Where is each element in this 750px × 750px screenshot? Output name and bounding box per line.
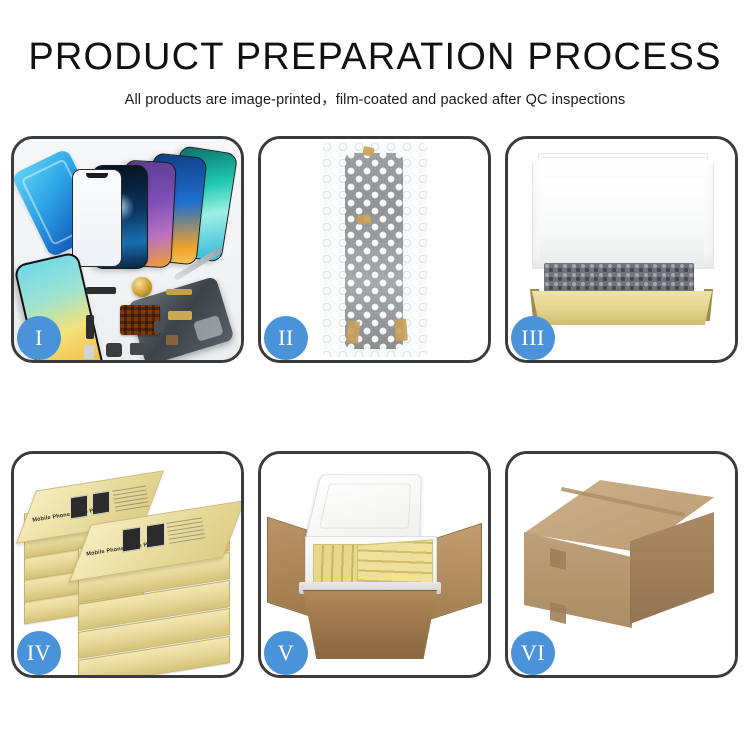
white-foam-liner-icon [540, 179, 704, 265]
product-preparation-infographic: PRODUCT PREPARATION PROCESS All products… [0, 0, 750, 750]
bubble-wrap-texture-icon [323, 143, 427, 357]
part-gold-flex-icon [168, 311, 192, 320]
step-panel-2: II [258, 136, 491, 363]
step-badge-1: I [17, 316, 61, 360]
page-title: PRODUCT PREPARATION PROCESS [0, 38, 750, 76]
step-badge-5: V [264, 631, 308, 675]
part-connector-icon [86, 287, 116, 294]
phone-notch-icon [86, 173, 108, 178]
bubble-wrap-bag [323, 143, 427, 357]
step-badge-3: III [511, 316, 555, 360]
header: PRODUCT PREPARATION PROCESS All products… [0, 0, 750, 109]
step-panel-4: Mobile Phone Spare Parts Mobile Phone Sp… [11, 451, 244, 678]
carton-tape-icon [550, 548, 566, 570]
tape-piece-icon [356, 214, 371, 225]
part-button-icon [154, 321, 164, 333]
part-flex-cable-icon [86, 315, 94, 339]
vibration-motor-icon [132, 277, 152, 297]
step-panel-1: I [11, 136, 244, 363]
process-steps-grid: I II [11, 136, 739, 678]
tape-piece-icon [345, 320, 359, 343]
part-speaker-icon [130, 343, 144, 355]
step-badge-6: VI [511, 631, 555, 675]
part-gold-strip-icon [166, 289, 192, 295]
step-badge-4: IV [17, 631, 61, 675]
tape-piece-icon [394, 319, 408, 342]
step-panel-6: VI [505, 451, 738, 678]
styrofoam-lid-icon [304, 474, 421, 542]
part-bracket-icon [166, 335, 178, 345]
step-panel-3: III [505, 136, 738, 363]
carton-tape-icon [550, 602, 566, 624]
part-sim-tray-icon [84, 345, 94, 359]
carton-body-icon [303, 590, 437, 659]
part-camera-module-icon [106, 343, 122, 357]
page-subtitle: All products are image-printed，film-coat… [0, 88, 750, 109]
step-panel-5: V [258, 451, 491, 678]
mailer-front-panel-icon [532, 291, 712, 325]
tempered-glass-icon [72, 169, 122, 267]
step-badge-2: II [264, 316, 308, 360]
